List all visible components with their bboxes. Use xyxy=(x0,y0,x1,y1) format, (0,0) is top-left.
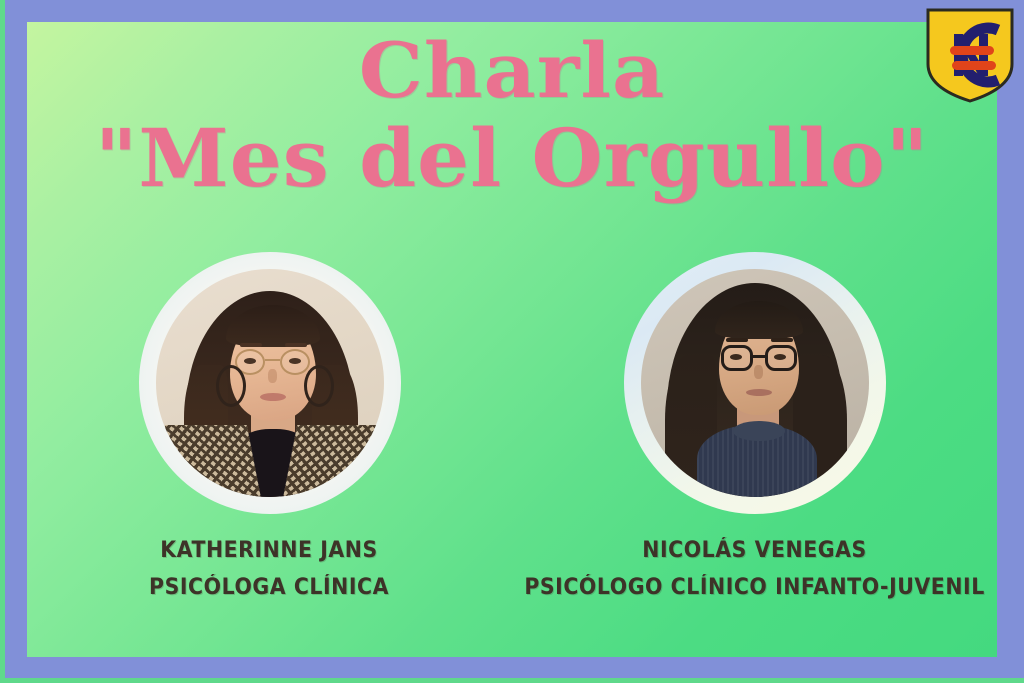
blazer-left xyxy=(164,425,260,497)
eyebrow-right xyxy=(771,338,793,342)
sweater-collar xyxy=(733,421,785,441)
eye-right xyxy=(774,354,786,360)
eyebrow-left xyxy=(240,343,262,347)
avatar-ring-left xyxy=(139,252,401,514)
speaker-left-caption: KATHERINNE JANS PSICÓLOGA CLÍNICA xyxy=(140,536,398,603)
page-subtitle: "Mes del Orgullo" xyxy=(27,118,997,200)
nose xyxy=(754,365,763,379)
earring-left xyxy=(216,365,246,407)
glasses-bridge xyxy=(752,355,766,358)
glasses-bridge xyxy=(265,359,280,361)
eye-right xyxy=(289,358,301,364)
eye-left xyxy=(730,354,742,360)
poster-canvas: Charla "Mes del Orgullo" xyxy=(27,22,997,657)
speaker-right-caption: NICOLÁS VENEGAS PSICÓLOGO CLÍNICO INFANT… xyxy=(507,536,997,603)
poster-root: Charla "Mes del Orgullo" xyxy=(0,0,1024,683)
eye-left xyxy=(244,358,256,364)
avatar-photo-right xyxy=(641,269,869,497)
red-bar-top xyxy=(950,46,994,55)
eyebrow-left xyxy=(726,338,748,342)
speaker-left-name: KATHERINNE JANS xyxy=(150,536,390,565)
speaker-left-role: PSICÓLOGA CLÍNICA xyxy=(150,573,390,602)
earring-right xyxy=(304,365,334,407)
speaker-right-name: NICOLÁS VENEGAS xyxy=(524,536,984,565)
avatar-ring-right xyxy=(624,252,886,514)
nose xyxy=(268,369,277,383)
shield-crest-logo xyxy=(924,6,1016,104)
red-bar-bottom xyxy=(952,61,996,70)
speaker-right-role: PSICÓLOGO CLÍNICO INFANTO-JUVENIL xyxy=(524,573,984,602)
speaker-right: NICOLÁS VENEGAS PSICÓLOGO CLÍNICO INFANT… xyxy=(525,252,985,603)
mouth xyxy=(260,393,286,401)
page-title: Charla xyxy=(27,32,997,110)
avatar-photo-left xyxy=(156,269,384,497)
mouth xyxy=(746,389,772,396)
speakers-row: KATHERINNE JANS PSICÓLOGA CLÍNICA xyxy=(27,252,997,642)
title-block: Charla "Mes del Orgullo" xyxy=(27,32,997,199)
eyebrow-right xyxy=(285,343,307,347)
blazer-right xyxy=(282,425,378,497)
speaker-left: KATHERINNE JANS PSICÓLOGA CLÍNICA xyxy=(40,252,500,603)
